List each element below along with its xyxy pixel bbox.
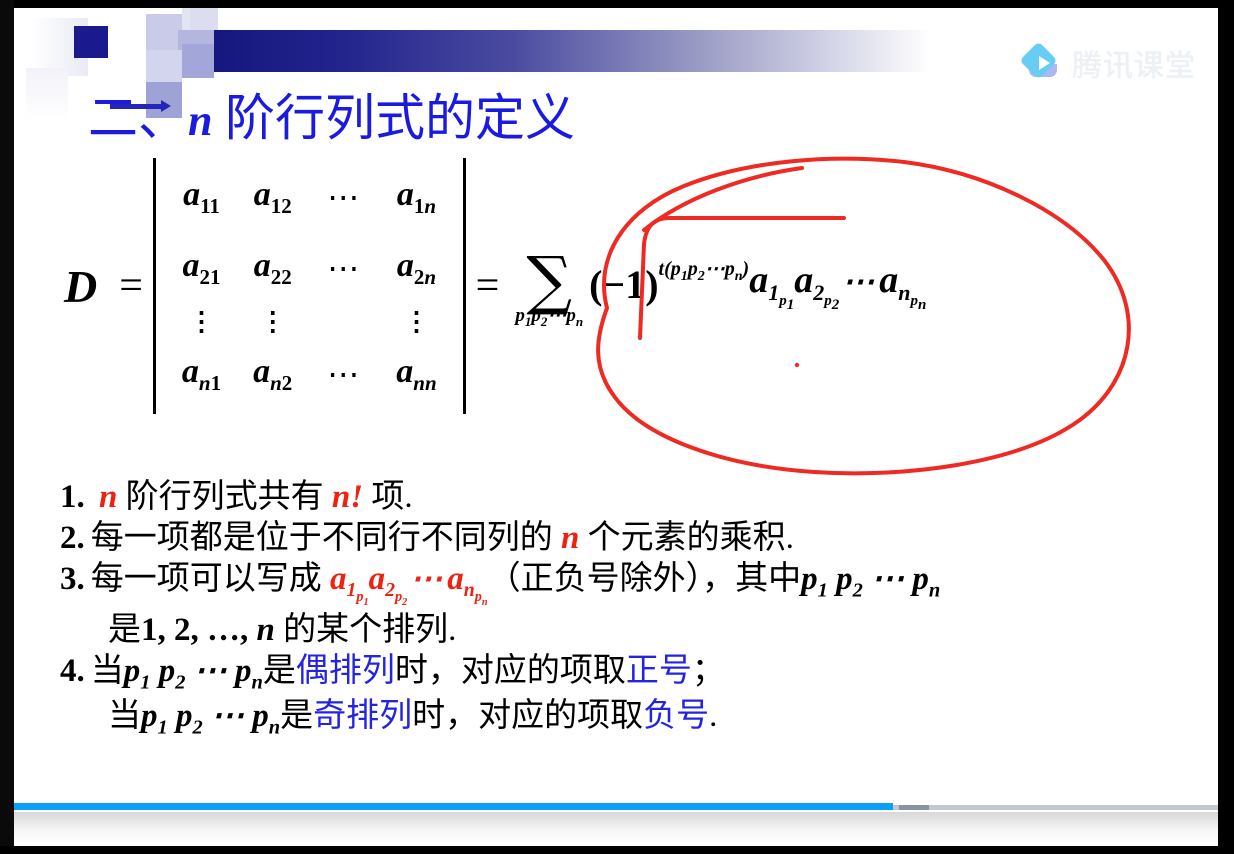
sign-factor: (−1)t(p1p2⋯pn)	[589, 261, 749, 308]
list-item-4-blue-plus: 正号	[626, 653, 692, 689]
list-item-1-var-n: n	[99, 479, 117, 515]
product-anpn: anpn	[879, 259, 926, 301]
list-item-3-suffix: （正负号除外），其中	[488, 561, 802, 597]
logo-brand-text: 腾讯课堂	[1072, 41, 1196, 85]
matrix-entry-a2n: a2n	[397, 247, 436, 284]
list-item-4-prefix: 当	[91, 653, 124, 689]
bottom-black-border	[0, 846, 1234, 854]
table-row: ⋮ ⋮ ⋮	[166, 304, 453, 338]
right-black-border	[1218, 0, 1234, 854]
list-item-1-text-b: 项.	[371, 479, 412, 515]
product-dots: ⋯	[842, 263, 876, 299]
deco-square-10	[26, 68, 68, 120]
matrix-entry-a1n: a1n	[397, 176, 436, 213]
list-item-3-continuation: 是1, 2, …, n 的某个排列.	[60, 611, 1218, 650]
matrix-entry-a12: a12	[254, 176, 292, 213]
list-item-1-number: 1.	[60, 479, 85, 515]
list-item-4-line2-prefix: 当	[108, 698, 141, 734]
deco-square-navy	[74, 26, 108, 58]
matrix-entry-an2: an2	[253, 353, 292, 390]
graduation-play-icon	[1023, 43, 1063, 83]
list-item-2-var-n: n	[561, 520, 579, 556]
table-row: a11 a12 ⋯ a1n	[166, 162, 453, 233]
page-title: 二、n 阶行列式的定义	[88, 78, 575, 150]
list-item-4-continuation: 当p1 p2 ⋯ pn是奇排列时，对应的项取负号.	[60, 697, 1218, 740]
sign-base: (−1)	[589, 262, 658, 307]
slide-container: 腾讯课堂 二、n 阶行列式的定义 D = a11 a12 ⋯ a1n a21	[0, 0, 1234, 854]
list-item-1-text-a: 阶行列式共有	[126, 479, 324, 515]
list-item-4-permutation-1: p1 p2 ⋯ pn	[124, 653, 263, 689]
list-item-3-number: 3.	[60, 561, 85, 597]
table-row: an1 an2 ⋯ ann	[166, 339, 453, 410]
list-item-4-line2-mid: 是	[280, 698, 313, 734]
top-black-border	[0, 0, 1234, 8]
matrix-entry-a11: a11	[183, 176, 220, 213]
list-item-3-line2: 是1, 2, …, n 的某个排列.	[108, 612, 456, 648]
title-suffix: 阶行列式的定义	[212, 90, 575, 146]
determinant-label-D: D	[64, 260, 97, 313]
product-a2p2: a2p2	[794, 259, 839, 301]
column-vdots-1: ⋮	[189, 318, 215, 326]
list-item-3-permutation: p1 p2 ⋯ pn	[801, 561, 940, 597]
deco-square-4	[146, 14, 182, 50]
list-item-4-end: ；	[692, 653, 725, 689]
list-item-4-line2-end: .	[709, 698, 717, 734]
matrix-entry-a21: a21	[183, 247, 221, 284]
list-item-4-permutation-2: p1 p2 ⋯ pn	[141, 698, 280, 734]
column-vdots-2: ⋮	[260, 318, 286, 326]
summation-index: p1p2⋯pn	[515, 304, 583, 330]
list-item-1: 1. n 阶行列式共有 n! 项.	[60, 478, 1218, 517]
determinant-definition-formula: D = a11 a12 ⋯ a1n a21 a22 ⋯ a2n	[64, 158, 926, 414]
tencent-classroom-logo: 腾讯课堂	[1023, 41, 1196, 85]
list-item-4-blue-minus: 负号	[643, 698, 709, 734]
deco-square-3	[108, 16, 146, 50]
matrix-entry-a22: a22	[254, 247, 292, 284]
product-terms: a1p1a2p2⋯anpn	[749, 258, 926, 315]
list-item-2-text-a: 每一项都是位于不同行不同列的	[91, 520, 553, 556]
column-vdots-3: ⋮	[403, 318, 429, 326]
sign-exponent: t(p1p2⋯pn)	[659, 258, 750, 280]
progress-buffer	[899, 805, 929, 810]
matrix-entry-an1: an1	[182, 353, 221, 390]
list-item-3: 3.每一项可以写成 a1p1a2p2⋯anpn（正负号除外），其中p1 p2 ⋯…	[60, 560, 1218, 610]
matrix-entry-ann: ann	[396, 353, 436, 390]
table-row: a21 a22 ⋯ a2n	[166, 233, 453, 304]
list-item-4-blue-even: 偶排列	[296, 653, 395, 689]
equals-sign-2: =	[476, 262, 500, 310]
row-dots-2: ⋯	[327, 250, 361, 286]
header-gradient-bar	[210, 30, 930, 72]
list-item-4: 4.当p1 p2 ⋯ pn是偶排列时，对应的项取正号；	[60, 652, 1218, 695]
equals-sign-1: =	[119, 262, 143, 310]
slide-page: 腾讯课堂 二、n 阶行列式的定义 D = a11 a12 ⋯ a1n a21	[14, 8, 1218, 846]
definition-notes-list: 1. n 阶行列式共有 n! 项. 2.每一项都是位于不同行不同列的 n 个元素…	[60, 478, 1218, 742]
list-item-4-mid: 是	[263, 653, 296, 689]
list-item-3-prefix: 每一项可以写成	[91, 561, 330, 597]
matrix-table: a11 a12 ⋯ a1n a21 a22 ⋯ a2n ⋮ ⋮	[166, 162, 453, 410]
list-item-1-var-nfact: n!	[332, 479, 363, 515]
list-item-2-text-b: 个元素的乘积.	[588, 520, 794, 556]
progress-played[interactable]	[14, 803, 893, 810]
list-item-4-blue-odd: 奇排列	[313, 698, 412, 734]
title-variable: n	[188, 96, 212, 145]
video-progress-bar[interactable]	[14, 803, 1218, 810]
deco-square-11	[190, 8, 218, 30]
row-dots-1: ⋯	[327, 179, 361, 215]
list-item-2: 2.每一项都是位于不同行不同列的 n 个元素的乘积.	[60, 519, 1218, 558]
summation-group: ∑ p1p2⋯pn	[515, 254, 583, 330]
left-black-border	[0, 0, 14, 854]
list-item-2-number: 2.	[60, 520, 85, 556]
sigma-icon: ∑	[526, 254, 572, 308]
deco-square-7	[182, 44, 214, 78]
list-item-4-mid2: 时，对应的项取	[395, 653, 626, 689]
determinant-matrix: a11 a12 ⋯ a1n a21 a22 ⋯ a2n ⋮ ⋮	[153, 158, 466, 414]
list-item-4-line2-mid2: 时，对应的项取	[412, 698, 643, 734]
player-bottom-fade	[14, 812, 1218, 846]
row-dots-3: ⋯	[327, 356, 361, 392]
list-item-4-number: 4.	[60, 653, 85, 689]
title-prefix: 二、	[88, 90, 188, 146]
list-item-3-red-product: a1p1a2p2⋯anpn	[330, 561, 488, 597]
product-a1p1: a1p1	[749, 259, 794, 301]
